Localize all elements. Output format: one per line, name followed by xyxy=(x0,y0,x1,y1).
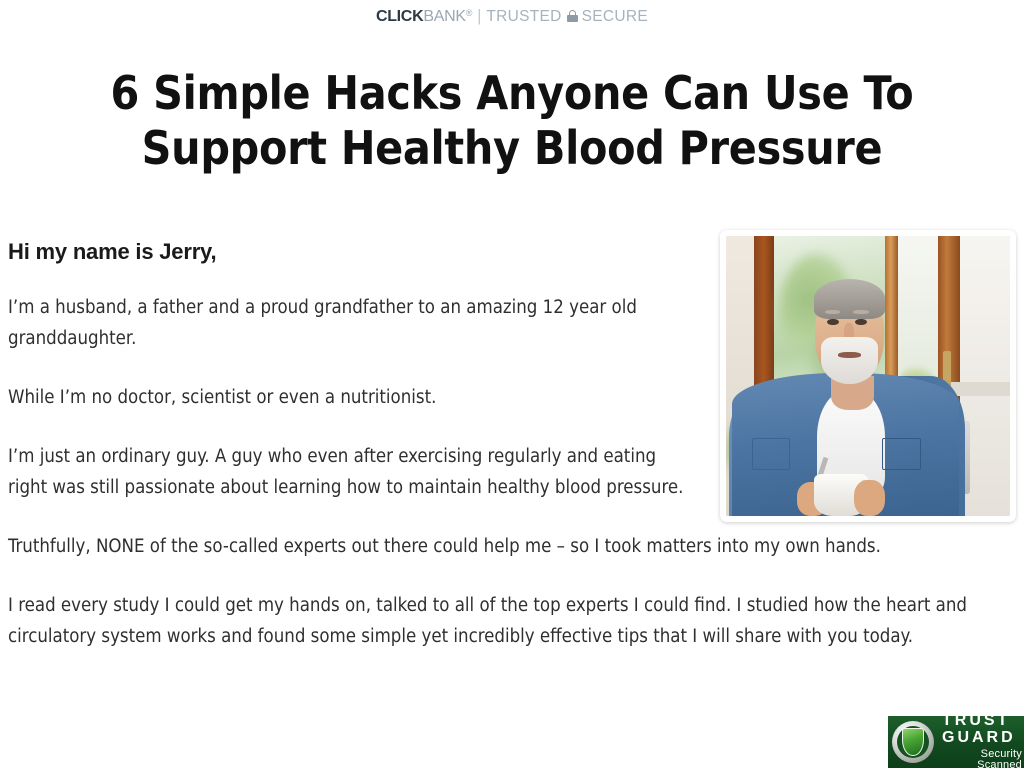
trust-guard-text: TRUST GUARD Security Scanned xyxy=(936,716,1024,768)
paragraph-1: I’m a husband, a father and a proud gran… xyxy=(8,292,698,354)
portrait-photo xyxy=(726,236,1010,516)
paragraph-2: While I’m no doctor, scientist or even a… xyxy=(8,382,698,413)
clickbank-logo: CLICKBANK® | TRUSTED SECURE xyxy=(376,7,648,25)
portrait-photo-frame xyxy=(720,230,1016,522)
trust-guard-badge[interactable]: TRUST GUARD Security Scanned xyxy=(888,716,1024,768)
trust-guard-line-3: Security Scanned xyxy=(942,749,1024,768)
paragraph-5: I read every study I could get my hands … xyxy=(8,590,1014,652)
registered-mark: ® xyxy=(466,9,472,18)
paragraph-3: I’m just an ordinary guy. A guy who even… xyxy=(8,441,698,503)
clickbank-trust-bar: CLICKBANK® | TRUSTED SECURE xyxy=(0,0,1024,28)
trusted-label: TRUSTED xyxy=(486,9,561,25)
shield-icon xyxy=(890,719,936,765)
article-body: Hi my name is Jerry, I’m a husband, a fa… xyxy=(0,238,1024,652)
secure-label: SECURE xyxy=(582,9,648,25)
clickbank-logo-bold: CLICK xyxy=(376,9,423,25)
page-title: 6 Simple Hacks Anyone Can Use To Support… xyxy=(0,66,1024,176)
lock-icon xyxy=(567,10,578,22)
page-title-line-1: 6 Simple Hacks Anyone Can Use To xyxy=(60,66,964,121)
paragraph-4: Truthfully, NONE of the so-called expert… xyxy=(8,531,1014,562)
trust-guard-line-1: TRUST xyxy=(942,716,1024,729)
clickbank-logo-light: BANK xyxy=(423,9,465,25)
page-title-line-2: Support Healthy Blood Pressure xyxy=(60,121,964,176)
logo-separator: | xyxy=(477,7,481,24)
trust-guard-line-2: GUARD xyxy=(942,730,1024,746)
